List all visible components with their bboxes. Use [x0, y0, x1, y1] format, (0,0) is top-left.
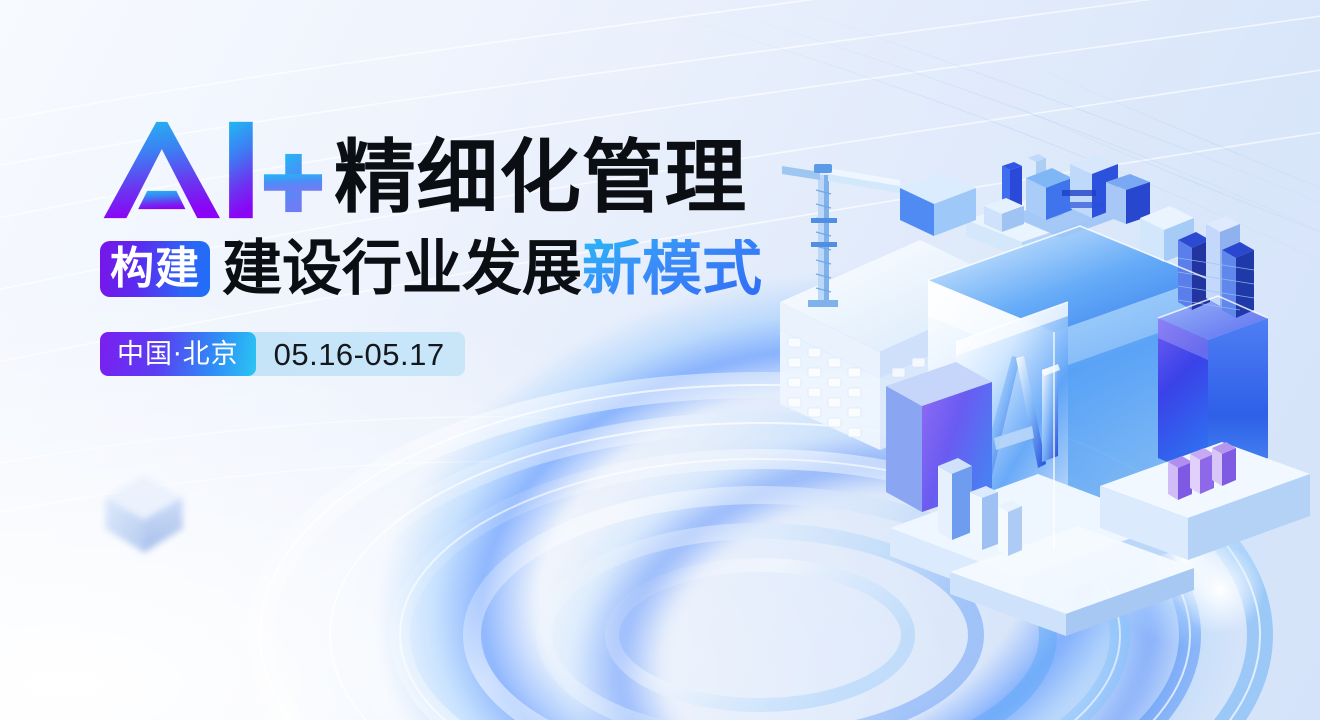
plus-icon	[262, 152, 324, 214]
blurred-glass-cube-icon	[98, 468, 190, 560]
headline-primary-text: 精细化管理	[334, 138, 747, 218]
glass-cube-icon	[900, 172, 976, 236]
event-date-range: 05.16-05.17	[256, 332, 465, 376]
headline-secondary-text: 建设行业发展	[222, 239, 582, 299]
ai-logo-icon	[100, 120, 260, 220]
isometric-3d-illustration	[770, 120, 1320, 640]
headline-block: 精细化管理 构建 建设行业发展 新模式 中国·北京 05.16-05.17	[100, 112, 820, 376]
headline-line-2: 构建 建设行业发展 新模式	[100, 236, 820, 302]
build-badge: 构建	[100, 241, 210, 297]
event-location: 中国·北京	[100, 332, 256, 376]
event-banner: 精细化管理 构建 建设行业发展 新模式 中国·北京 05.16-05.17	[0, 0, 1320, 720]
headline-accent-text: 新模式	[582, 239, 762, 299]
headline-line-1: 精细化管理	[100, 112, 820, 220]
event-meta-bar: 中国·北京 05.16-05.17	[100, 332, 465, 376]
